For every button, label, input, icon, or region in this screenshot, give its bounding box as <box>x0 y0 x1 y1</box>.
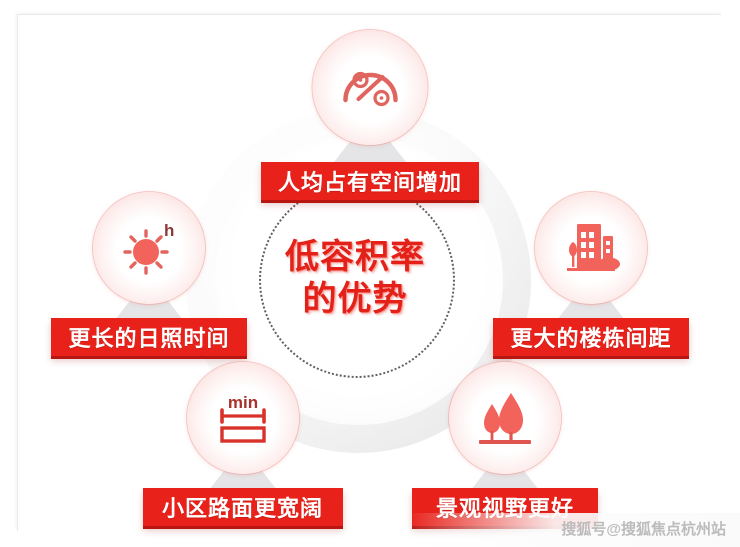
road-width-icon: min <box>209 384 277 452</box>
buildings-spacing-icon <box>557 214 625 282</box>
node-label[interactable]: 更大的楼栋间距 <box>493 318 689 356</box>
percent-gauge-icon <box>336 54 404 122</box>
node-label[interactable]: 更长的日照时间 <box>51 318 247 356</box>
node-bubble <box>313 30 428 145</box>
svg-text:h: h <box>164 221 174 240</box>
node-bubble <box>535 192 647 304</box>
node-bubble <box>449 362 561 474</box>
node-per-capita-space[interactable]: 人均占有空间增加 <box>255 30 485 175</box>
trees-landscape-icon <box>471 384 539 452</box>
svg-text:min: min <box>227 393 257 412</box>
center-title-line-1: 低容积率 <box>285 237 425 277</box>
node-label[interactable]: 人均占有空间增加 <box>261 162 479 200</box>
sun-hours-icon: h <box>115 214 183 282</box>
watermark: 搜狐号@搜狐焦点杭州站 <box>561 518 726 539</box>
node-sunlight-hours[interactable]: h 更长的日照时间 <box>45 192 253 337</box>
node-bubble: min <box>187 362 299 474</box>
node-road-width[interactable]: min 小区路面更宽阔 <box>135 362 350 507</box>
node-building-spacing[interactable]: 更大的楼栋间距 <box>487 192 695 337</box>
infographic-canvas: 低容积率 的优势 人均占有空间增加 <box>0 0 740 547</box>
center-title-line-2: 的优势 <box>303 279 408 319</box>
node-landscape-view[interactable]: 景观视野更好 <box>400 362 610 507</box>
center-title: 低容积率 的优势 <box>259 182 451 374</box>
node-bubble: h <box>93 192 205 304</box>
